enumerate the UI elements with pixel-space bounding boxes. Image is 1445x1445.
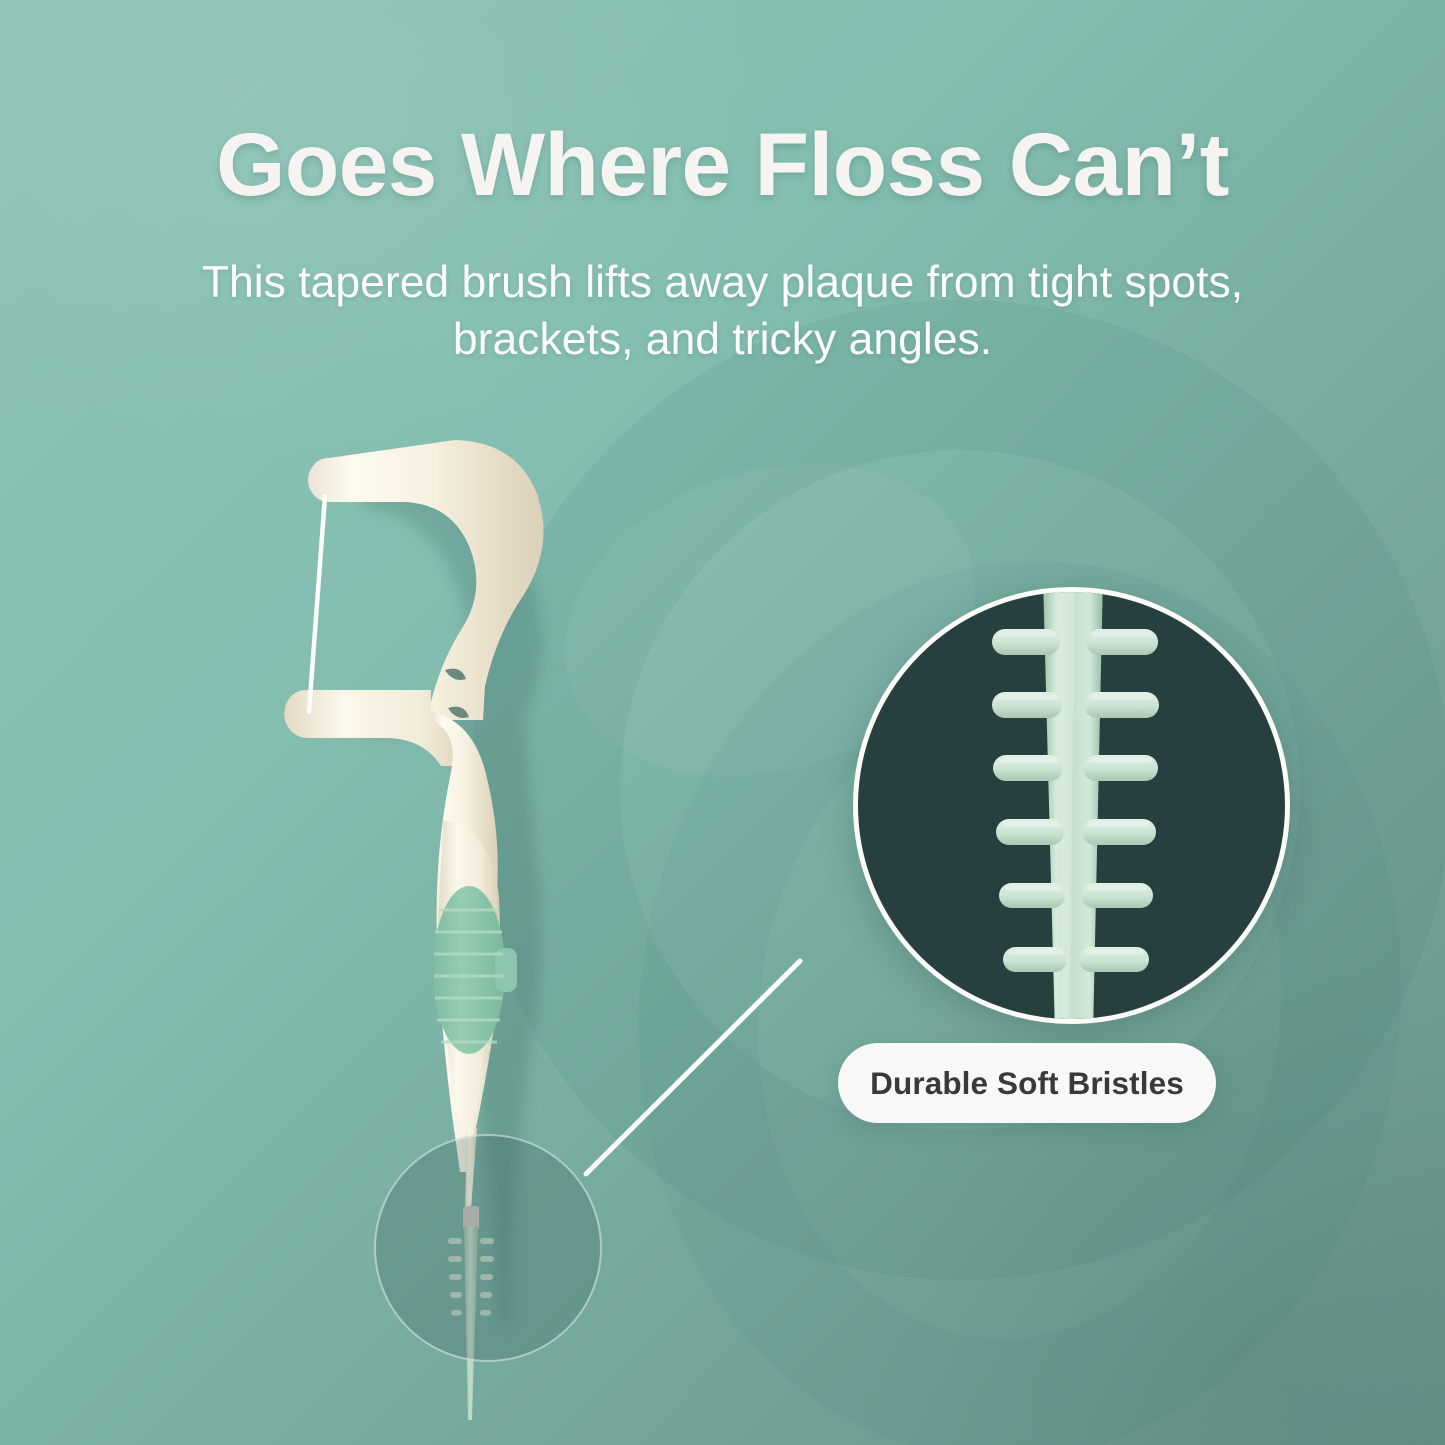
page-subtitle: This tapered brush lifts away plaque fro… xyxy=(190,255,1255,369)
brush-tip-highlight-circle xyxy=(374,1134,602,1362)
infographic-canvas: Goes Where Floss Can’t This tapered brus… xyxy=(0,0,1445,1445)
badge-label: Durable Soft Bristles xyxy=(870,1065,1184,1102)
status-badge: Durable Soft Bristles xyxy=(838,1043,1216,1123)
magnified-bristle-illustration xyxy=(853,587,1290,1024)
floss-strand xyxy=(309,496,325,712)
page-title: Goes Where Floss Can’t xyxy=(0,113,1445,216)
bristle-magnifier-circle xyxy=(853,587,1290,1024)
